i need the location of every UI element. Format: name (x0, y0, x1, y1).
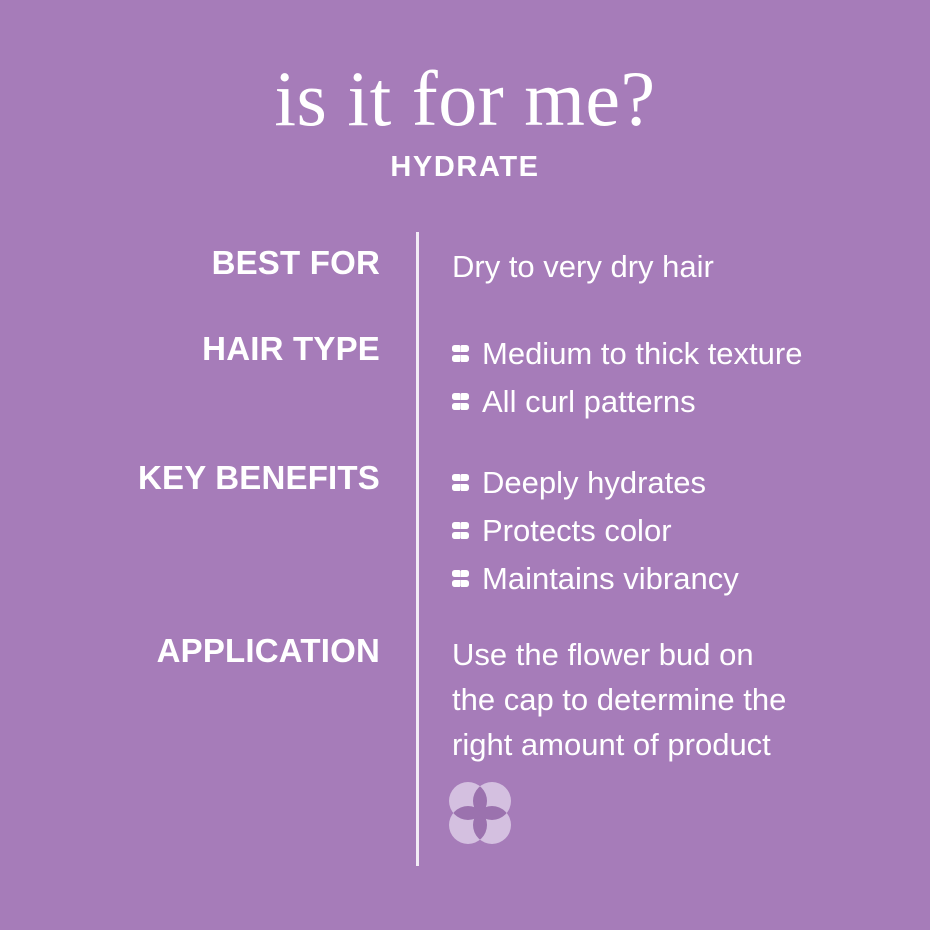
list-item: Maintains vibrancy (452, 555, 892, 603)
row-content-key-benefits: Deeply hydrates Protects color (452, 459, 892, 603)
text-line: the cap to determine the (452, 677, 892, 722)
list-item-label: Maintains vibrancy (482, 555, 739, 603)
row-label-key-benefits: KEY BENEFITS (60, 459, 380, 497)
list-item: All curl patterns (452, 378, 892, 426)
quatrefoil-bullet-icon (452, 522, 469, 539)
list-item-label: All curl patterns (482, 378, 696, 426)
quatrefoil-bullet-icon (452, 474, 469, 491)
row-content-application: Use the flower bud on the cap to determi… (452, 632, 892, 767)
quatrefoil-bullet-icon (452, 393, 469, 410)
row-label-application: APPLICATION (60, 632, 380, 670)
list-item: Medium to thick texture (452, 330, 892, 378)
flower-bud-logo-icon (449, 782, 511, 844)
quatrefoil-bullet-icon (452, 570, 469, 587)
infographic-card: is it for me? HYDRATE BEST FOR Dry to ve… (0, 0, 930, 930)
row-content-best-for: Dry to very dry hair (452, 244, 892, 289)
row-content-hair-type: Medium to thick texture All curl pattern… (452, 330, 892, 426)
text-line: Use the flower bud on (452, 632, 892, 677)
list-item-label: Protects color (482, 507, 672, 555)
list-item: Protects color (452, 507, 892, 555)
quatrefoil-bullet-icon (452, 345, 469, 362)
row-label-best-for: BEST FOR (60, 244, 380, 282)
text-line: right amount of product (452, 722, 892, 767)
page-title: is it for me? (0, 56, 930, 142)
list-item-label: Medium to thick texture (482, 330, 802, 378)
header: is it for me? HYDRATE (0, 56, 930, 184)
list-item-label: Deeply hydrates (482, 459, 706, 507)
row-label-hair-type: HAIR TYPE (60, 330, 380, 368)
list-item: Deeply hydrates (452, 459, 892, 507)
vertical-divider (416, 232, 419, 866)
page-subtitle: HYDRATE (0, 150, 930, 184)
text-line: Dry to very dry hair (452, 244, 892, 289)
